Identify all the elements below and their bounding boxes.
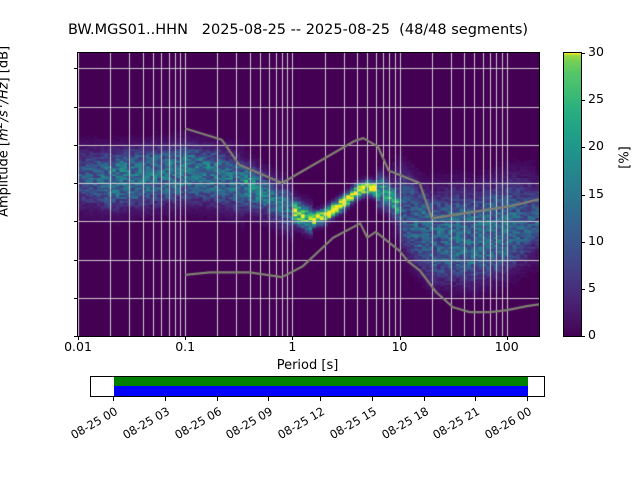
y-axis-label-text: Amplitude [m2/s4/Hz] [dB] [0, 46, 12, 217]
colorbar-tick-label: 20 [588, 138, 618, 153]
time-tick-label: 08-25 09 [215, 404, 276, 447]
colorbar-tick-mark [581, 195, 585, 196]
x-tick-label: 100 [472, 339, 542, 354]
time-tick-mark [475, 397, 476, 401]
time-coverage-psd-bar [114, 386, 528, 396]
time-tick-mark [424, 397, 425, 401]
colorbar-tick-mark [581, 147, 585, 148]
y-tick-mark [74, 68, 78, 69]
y-tick-mark [74, 260, 78, 261]
colorbar-tick-label: 30 [588, 44, 618, 59]
time-tick-mark [165, 397, 166, 401]
ppsd-histogram-canvas [78, 53, 539, 336]
colorbar-tick-mark [581, 53, 585, 54]
time-tick-mark [320, 397, 321, 401]
x-tick-label: 0.1 [150, 339, 220, 354]
time-coverage-axes[interactable] [90, 376, 545, 397]
colorbar-tick-mark [581, 289, 585, 290]
x-tick-label: 0.01 [43, 339, 113, 354]
y-axis-label: Amplitude [m2/s4/Hz] [dB] [0, 0, 27, 350]
colorbar-tick-mark [581, 336, 585, 337]
time-tick-label: 08-25 06 [163, 404, 224, 447]
y-tick-mark [74, 145, 78, 146]
time-tick-label: 08-25 18 [370, 404, 431, 447]
time-tick-mark [268, 397, 269, 401]
colorbar-tick-label: 0 [588, 327, 618, 342]
time-tick-mark [217, 397, 218, 401]
time-tick-label: 08-26 00 [473, 404, 534, 447]
colorbar-tick-label: 25 [588, 91, 618, 106]
time-tick-label: 08-25 03 [111, 404, 172, 447]
y-tick-mark [74, 298, 78, 299]
colorbar-tick-mark [581, 242, 585, 243]
y-tick-mark [74, 221, 78, 222]
colorbar-tick-label: 5 [588, 280, 618, 295]
colorbar [563, 52, 582, 337]
colorbar-tick-label: 10 [588, 233, 618, 248]
colorbar-label: [%] [618, 78, 633, 238]
colorbar-tick-label: 15 [588, 186, 618, 201]
time-coverage-data-bar [114, 377, 528, 386]
x-tick-label: 10 [365, 339, 435, 354]
x-tick-label: 1 [257, 339, 327, 354]
time-tick-label: 08-25 21 [422, 404, 483, 447]
x-axis-label: Period [s] [77, 358, 538, 373]
time-tick-mark [527, 397, 528, 401]
time-tick-mark [372, 397, 373, 401]
time-tick-label: 08-25 12 [266, 404, 327, 447]
ppsd-plot-area[interactable] [77, 52, 540, 337]
colorbar-tick-mark [581, 100, 585, 101]
ppsd-figure: BW.MGS01..HHN 2025-08-25 -- 2025-08-25 (… [0, 0, 640, 480]
page-title: BW.MGS01..HHN 2025-08-25 -- 2025-08-25 (… [0, 22, 596, 38]
time-tick-mark [113, 397, 114, 401]
time-tick-label: 08-25 15 [318, 404, 379, 447]
y-tick-mark [74, 107, 78, 108]
time-tick-label: 08-25 00 [59, 404, 120, 447]
y-tick-mark [74, 183, 78, 184]
